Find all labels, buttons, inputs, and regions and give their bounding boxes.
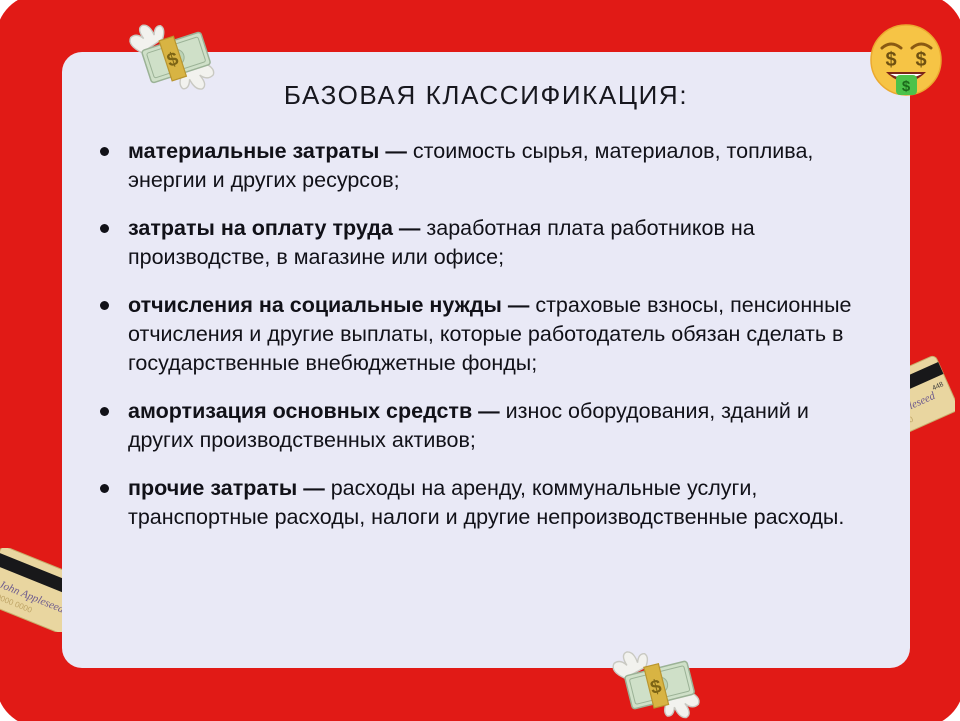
list-item-dash: — xyxy=(385,139,407,163)
classification-list: материальные затраты — стоимость сырья, … xyxy=(92,137,880,532)
list-item-term: отчисления на социальные нужды xyxy=(128,293,502,317)
list-item: прочие затраты — расходы на аренду, комм… xyxy=(92,474,880,531)
list-item: амортизация основных средств — износ обо… xyxy=(92,397,880,454)
content-panel: БАЗОВАЯ КЛАССИФИКАЦИЯ: материальные затр… xyxy=(62,52,910,668)
bullet-dot-icon xyxy=(100,484,109,493)
list-item: затраты на оплату труда — заработная пла… xyxy=(92,214,880,271)
list-item-term: затраты на оплату труда xyxy=(128,216,393,240)
list-item-term: прочие затраты xyxy=(128,476,297,500)
page-title: БАЗОВАЯ КЛАССИФИКАЦИЯ: xyxy=(92,80,880,111)
list-item-dash: — xyxy=(399,216,421,240)
list-item: отчисления на социальные нужды — страхов… xyxy=(92,291,880,377)
list-item-term: амортизация основных средств xyxy=(128,399,472,423)
list-item-term: материальные затраты xyxy=(128,139,379,163)
list-item-dash: — xyxy=(303,476,325,500)
bullet-dot-icon xyxy=(100,301,109,310)
bullet-dot-icon xyxy=(100,407,109,416)
list-item: материальные затраты — стоимость сырья, … xyxy=(92,137,880,194)
list-item-dash: — xyxy=(508,293,530,317)
bullet-dot-icon xyxy=(100,224,109,233)
list-item-dash: — xyxy=(478,399,500,423)
slide-canvas: $ $ $ $ John Appleseed 0000 0000 xyxy=(0,0,960,721)
bullet-dot-icon xyxy=(100,147,109,156)
